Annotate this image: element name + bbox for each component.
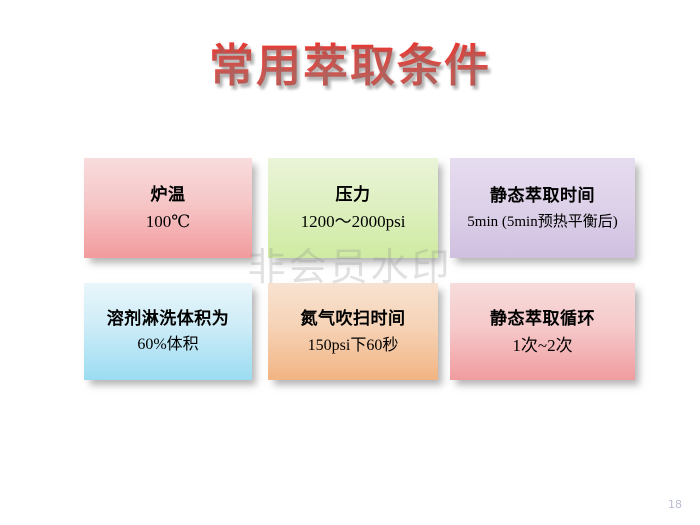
condition-box-heading: 溶剂淋洗体积为 xyxy=(107,307,230,331)
condition-box-heading: 静态萃取循环 xyxy=(490,307,595,332)
condition-box-static-extraction-cycles: 静态萃取循环 1次~2次 xyxy=(450,283,635,380)
condition-box-value: 60%体积 xyxy=(137,334,198,356)
condition-box-value: 1次~2次 xyxy=(512,335,572,357)
condition-box-heading: 炉温 xyxy=(151,183,186,208)
condition-box-heading: 氮气吹扫时间 xyxy=(301,307,406,332)
condition-box-solvent-rinse-volume: 溶剂淋洗体积为 60%体积 xyxy=(84,283,252,380)
condition-box-furnace-temperature: 炉温 100℃ xyxy=(84,158,252,258)
page-number: 18 xyxy=(668,498,682,511)
condition-box-grid: 炉温 100℃ 压力 1200～2000psi 静态萃取时间 5min (5mi… xyxy=(0,0,700,525)
condition-box-static-extraction-time: 静态萃取时间 5min (5min预热平衡后) xyxy=(450,158,635,258)
condition-box-value: 5min (5min预热平衡后) xyxy=(467,212,617,233)
condition-box-heading: 压力 xyxy=(336,183,371,208)
condition-box-value: 100℃ xyxy=(146,211,191,233)
condition-box-nitrogen-purge-time: 氮气吹扫时间 150psi下60秒 xyxy=(268,283,438,380)
condition-box-value: 1200～2000psi xyxy=(301,211,406,233)
slide-canvas: 常用萃取条件 常用萃取条件 非会员水印 炉温 100℃ 压力 1200～2000… xyxy=(0,0,700,525)
condition-box-pressure: 压力 1200～2000psi xyxy=(268,158,438,258)
condition-box-value: 150psi下60秒 xyxy=(308,335,399,357)
condition-box-heading: 静态萃取时间 xyxy=(490,184,595,209)
